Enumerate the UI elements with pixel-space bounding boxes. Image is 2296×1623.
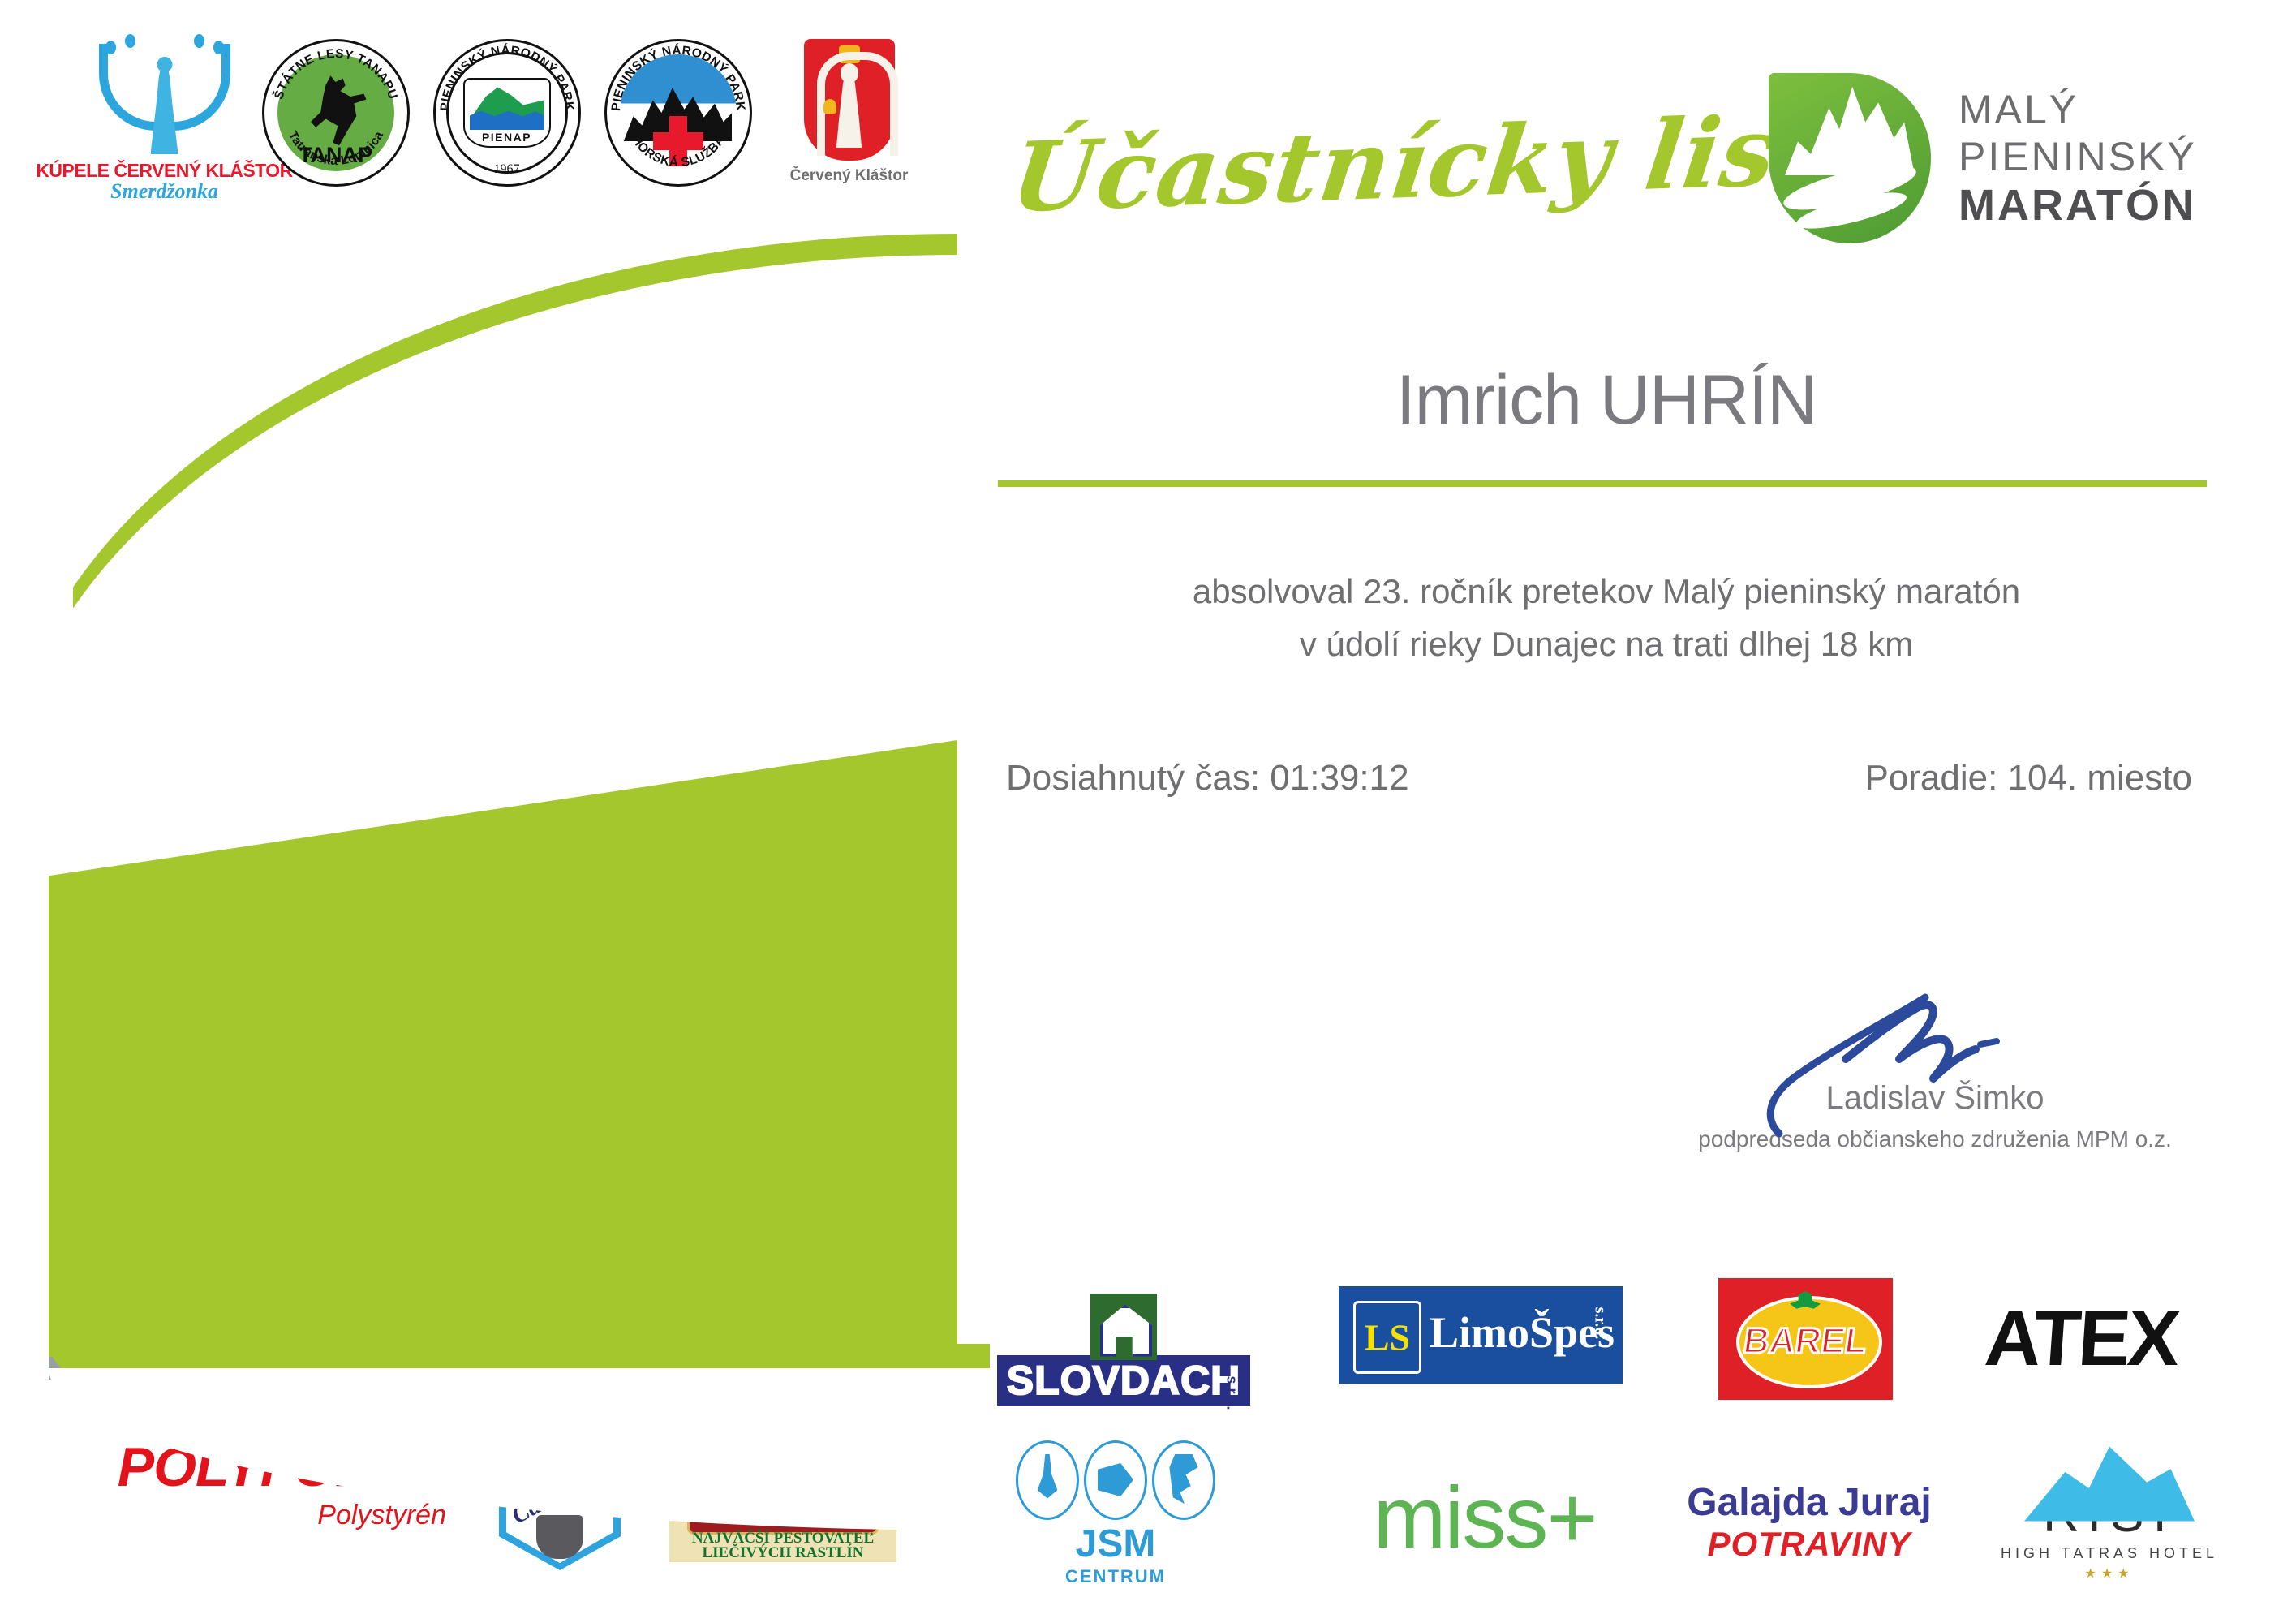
partner-sublabel-smerdzonka: Smerdžonka [110,180,218,204]
event-logo: MALÝ PIENINSKÝ MARATÓN [1769,73,2197,243]
sponsor-galajda-subtitle: POTRAVINY [1708,1525,1911,1564]
sponsor-galajda-juraj: Galajda Juraj POTRAVINY [1671,1469,1947,1574]
placement-rank: Poradie: 104. miesto [1864,758,2192,799]
paint-brush-icon [1016,1440,1079,1520]
svg-text:PIENINSKÝ NÁRODNÝ PARK: PIENINSKÝ NÁRODNÝ PARK [437,44,575,112]
certificate-description: absolvoval 23. ročník pretekov Malý pien… [998,565,2215,670]
screw-icon [1084,1440,1147,1520]
plus-icon: + [1546,1468,1596,1566]
partner-logo-statne-lesy-tanapu: TANAP ŠTÁTNE LESY TANAPU Tatranská Lomni… [260,39,411,226]
shower-icon [1152,1440,1215,1520]
sponsor-limospes-mark: LS [1365,1316,1410,1359]
bell-icon [823,99,836,114]
seal-icon: TANAP ŠTÁTNE LESY TANAPU Tatranská Lomni… [262,39,410,187]
sponsor-rysy-hotel: RYSY HIGH TATRAS HOTEL ★★★ [1992,1444,2227,1582]
leaf-mountain-logo-icon [1769,73,1931,243]
name-divider-rule [998,480,2207,487]
angel-icon [92,39,237,161]
sponsor-slovdach: SLOVDACH s.r.o. [1002,1282,1245,1412]
sponsor-atex-name: ATEX [1982,1300,2180,1378]
photo-green-border-middle [49,740,957,1357]
mountain-icon [2024,1447,2195,1522]
sponsor-polyform-subtitle: Polystyrén [317,1500,446,1531]
sponsor-rysy-subtitle: HIGH TATRAS HOTEL [2001,1545,2218,1562]
sponsor-miss-name: miss [1373,1468,1546,1566]
sponsor-atex: ATEX [1947,1290,2215,1388]
partner-logo-pieninsky-narodny-park: PIENAP 1967 PIENINSKÝ NÁRODNÝ PARK [432,39,582,226]
svg-text:HORSKÁ SLUŽBA: HORSKÁ SLUŽBA [628,133,727,170]
sponsor-miss-plus: miss+ [1347,1461,1623,1574]
recipient-name: Imrich UHRÍN [998,365,2215,435]
handwritten-signature-icon [1651,986,2219,1124]
sponsor-slovdach-suffix: s.r.o. [1223,1375,1240,1410]
seal-ring-text: PIENINSKÝ NÁRODNÝ PARK HORSKÁ SLUŽBA [607,41,750,184]
description-line-1: absolvoval 23. ročník pretekov Malý pien… [998,565,2215,618]
sponsor-elixir-tagline-2: LIEČIVÝCH RASTLÍN [669,1544,896,1562]
logo-line-2: PIENINSKÝ [1958,133,2197,180]
sponsor-galajda-name: Galajda Juraj [1687,1480,1931,1525]
finish-time: Dosiahnutý čas: 01:39:12 [1006,758,1409,799]
sponsor-barel-name: BAREL [1741,1321,1870,1362]
mortar-pestle-icon [536,1515,583,1559]
logo-line-3: MARATÓN [1958,180,2197,231]
signature-block: Ladislav Šimko podpredseda občianskeho z… [1651,986,2219,1152]
partner-label-kupele: KÚPELE ČERVENÝ KLÁŠTOR [36,161,293,180]
photo-panel: MALÝ PIENINSKÝ MARATÓN 310 275 199 110 8… [49,243,957,1380]
sponsor-limospes-suffix: s.r.o. [1591,1307,1610,1340]
partner-logo-kupele-cerveny-klastor: KÚPELE ČERVENÝ KLÁŠTOR Smerdžonka [89,39,239,226]
partner-logo-strip: KÚPELE ČERVENÝ KLÁŠTOR Smerdžonka TANAP … [89,39,949,226]
partner-label-cerveny-klastor: Červený Kláštor [790,167,909,185]
seal-ring-text: ŠTÁTNE LESY TANAPU Tatranská Lomnica [264,41,407,184]
page-title: Účastnícky list [1004,91,1770,247]
description-line-2: v údolí rieky Dunajec na trati dlhej 18 … [998,618,2215,670]
partner-logo-horska-sluzba: PIENINSKÝ NÁRODNÝ PARK HORSKÁ SLUŽBA [603,39,753,226]
sponsor-jsm-subtitle: CENTRUM [1065,1566,1166,1587]
star-rating-icon: ★★★ [2084,1565,2134,1581]
certificate-body: Imrich UHRÍN absolvoval 23. ročník prete… [998,365,2215,799]
logo-line-1: MALÝ [1958,86,2197,133]
svg-text:PIENINSKÝ NÁRODNÝ PARK: PIENINSKÝ NÁRODNÝ PARK [608,44,746,112]
sponsor-barel: BAREL [1712,1274,1898,1404]
partner-logo-cerveny-klastor: Červený Kláštor [774,39,924,226]
svg-text:Tatranská Lomnica: Tatranská Lomnica [285,129,385,168]
sponsor-slovdach-name: SLOVDACH [997,1355,1251,1406]
seal-icon: PIENINSKÝ NÁRODNÝ PARK HORSKÁ SLUŽBA [604,39,752,187]
seal-ring-text: PIENINSKÝ NÁRODNÝ PARK [436,41,578,184]
sponsor-limospes: LS LimoŠpes s.r.o. [1335,1282,1627,1388]
roof-house-icon [1090,1294,1157,1360]
coat-of-arms-icon [804,39,895,161]
result-row: Dosiahnutý čas: 01:39:12 Poradie: 104. m… [998,758,2215,799]
svg-text:ŠTÁTNE LESY TANAPU: ŠTÁTNE LESY TANAPU [271,47,399,101]
limospes-mark-icon: LS [1353,1301,1421,1374]
sponsor-limospes-name: LimoŠpes [1430,1307,1615,1358]
sponsor-jsm-name: JSM [1076,1522,1156,1566]
sponsor-jsm-centrum: JSM CENTRUM [1002,1453,1229,1574]
seal-icon: PIENAP 1967 PIENINSKÝ NÁRODNÝ PARK [433,39,581,187]
